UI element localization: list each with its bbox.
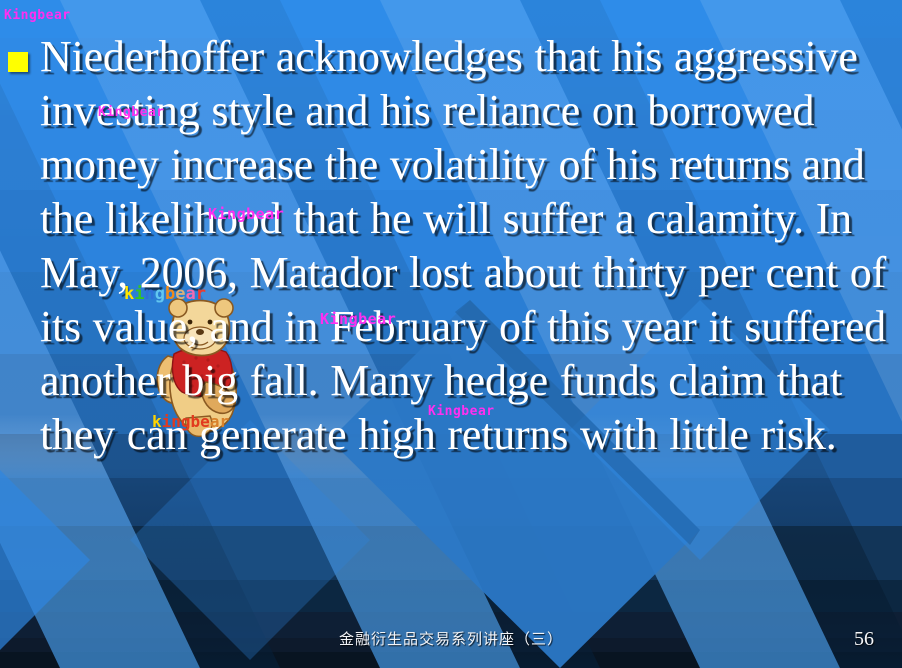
slide-body-text: Niederhoffer acknowledges that his aggre… bbox=[40, 30, 898, 462]
bullet-square-icon bbox=[8, 52, 28, 72]
slide-canvas: Niederhoffer acknowledges that his aggre… bbox=[0, 0, 902, 668]
bullet-paragraph-row: Niederhoffer acknowledges that his aggre… bbox=[8, 30, 898, 462]
page-number: 56 bbox=[854, 628, 874, 651]
footer-title: 金融衍生品交易系列讲座（三） bbox=[0, 628, 902, 649]
